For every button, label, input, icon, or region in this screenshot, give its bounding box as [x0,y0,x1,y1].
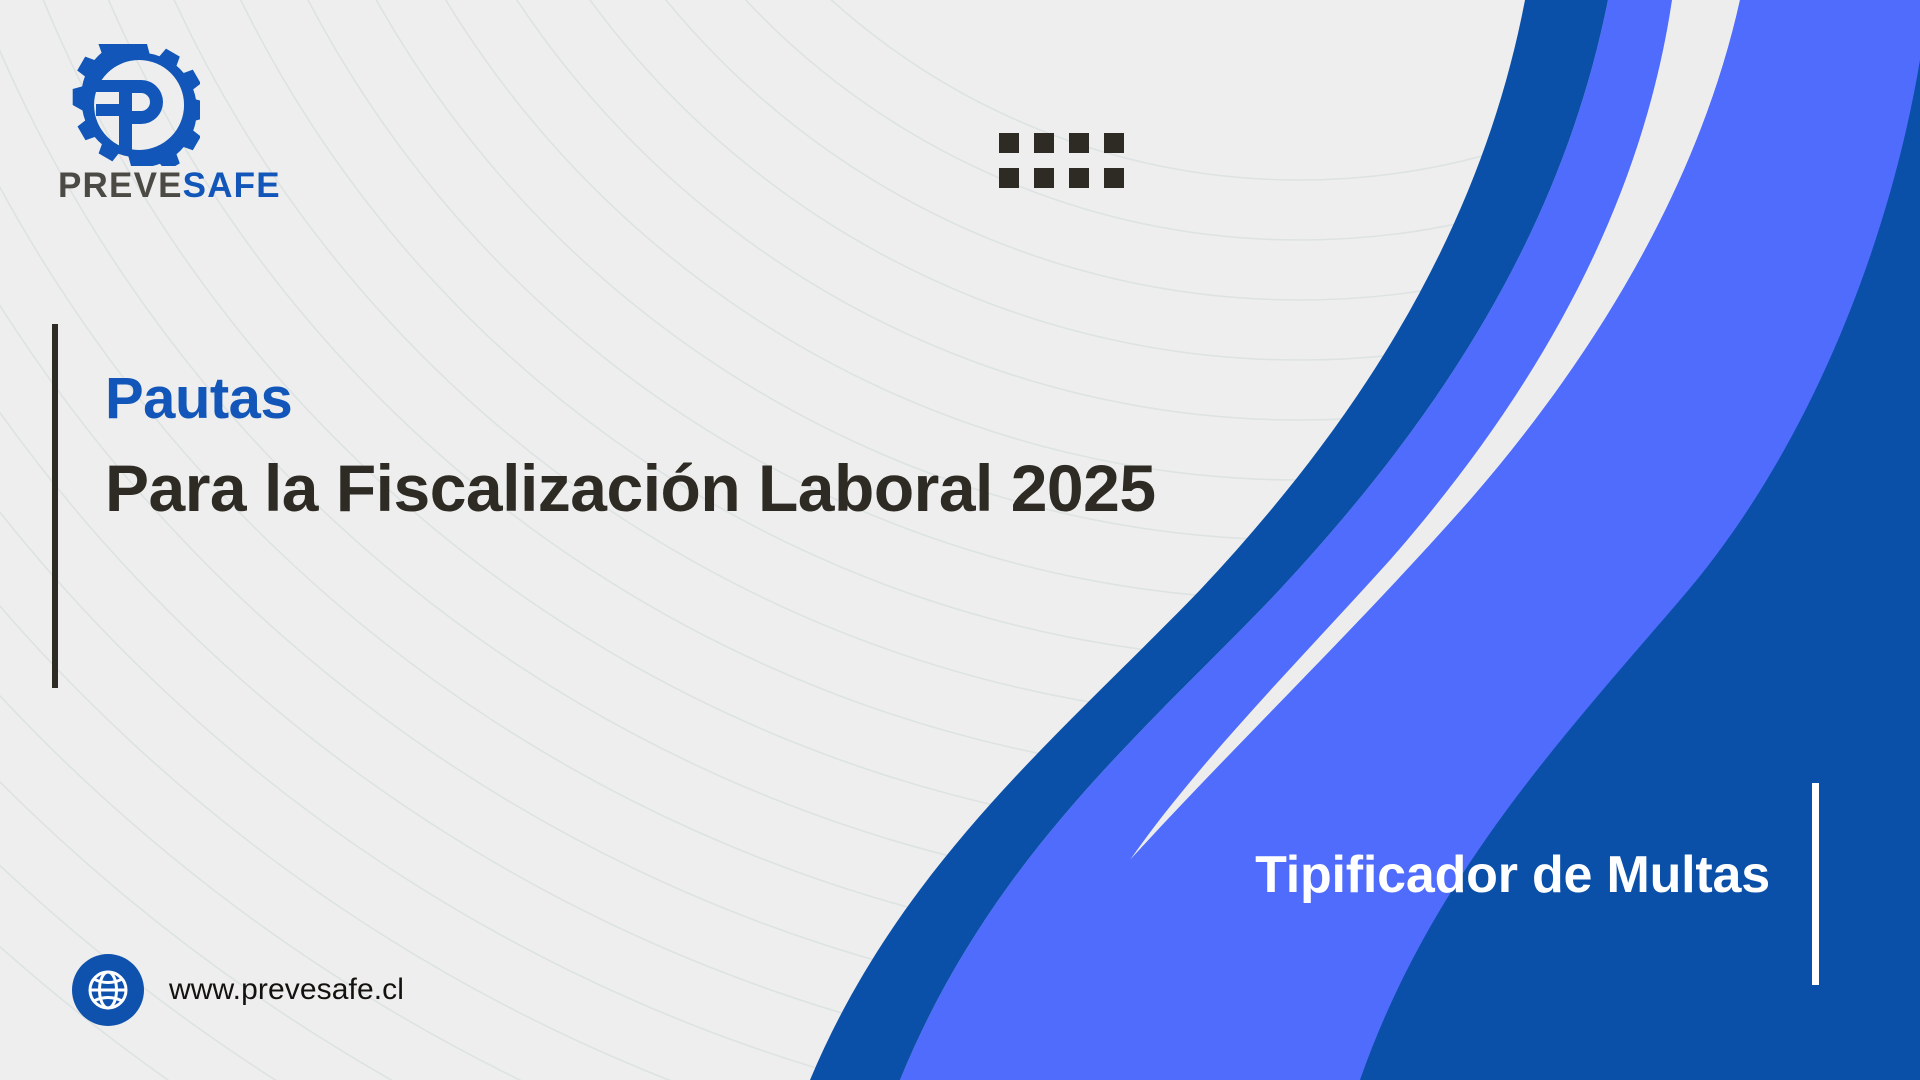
dot [1069,168,1089,188]
brand-logo: PREVESAFE [58,44,281,203]
brand-wordmark: PREVESAFE [58,168,281,203]
headline-accent-rule [52,324,58,688]
dot [999,168,1019,188]
wave-decoration [0,0,1920,1080]
website-footer[interactable]: www.prevesafe.cl [72,954,404,1026]
wave-gap-slice [1130,0,1740,860]
dot [1104,133,1124,153]
dot [1069,133,1089,153]
gear-p-logo-icon [72,44,200,166]
website-url[interactable]: www.prevesafe.cl [169,973,404,1007]
dot [1104,168,1124,188]
dot [1034,168,1054,188]
dot-grid-icon [999,133,1124,188]
brand-wordmark-accent: SAFE [183,166,281,205]
globe-icon [72,954,144,1026]
background-texture [0,0,1920,1080]
slide-canvas: PREVESAFE Pautas Para la Fiscalización L… [0,0,1920,1080]
wave-dark-edge [810,0,1608,1080]
headline-eyebrow: Pautas [105,370,1156,428]
dot [1034,133,1054,153]
headline-block: Pautas Para la Fiscalización Laboral 202… [105,370,1156,523]
page-title: Para la Fiscalización Laboral 2025 [105,454,1156,523]
brand-wordmark-primary: PREVE [58,166,183,205]
subject-label: Tipificador de Multas [1255,845,1770,905]
subject-accent-rule [1812,783,1819,985]
dot [999,133,1019,153]
